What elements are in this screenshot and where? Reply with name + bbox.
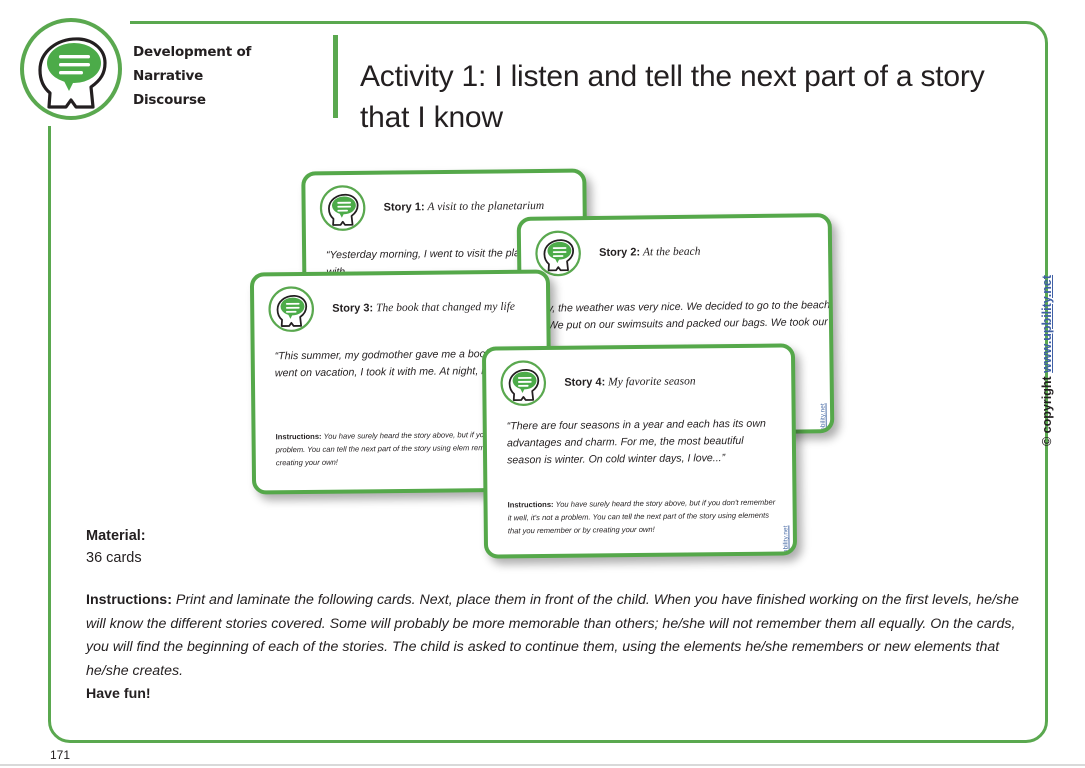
instructions-paragraph: Instructions: Print and laminate the fol…: [86, 589, 1028, 683]
instructions-text: Print and laminate the following cards. …: [86, 592, 1019, 679]
card-title: Story 1: A visit to the planetarium: [384, 200, 545, 214]
card-title: Story 2: At the beach: [599, 246, 700, 259]
title-accent-bar: [333, 35, 338, 118]
brand-line-2: Discourse: [133, 88, 313, 112]
card-label: Story 1:: [384, 201, 425, 213]
page-number: 171: [50, 748, 70, 762]
card-copyright-url[interactable]: www.upbility.net: [783, 525, 790, 558]
instructions-section: Instructions: Print and laminate the fol…: [86, 589, 1028, 707]
have-fun-text: Have fun!: [86, 683, 1028, 707]
page-title: Activity 1: I listen and tell the next p…: [360, 56, 1040, 138]
card-story-text: “There are four seasons in a year and ea…: [507, 416, 778, 470]
card-label: Story 2:: [599, 246, 640, 258]
material-value: 36 cards: [86, 547, 146, 569]
card-subject: The book that changed my life: [376, 301, 515, 314]
instructions-label: Instructions:: [86, 592, 172, 608]
page-copyright-url[interactable]: www.upbility.net: [1040, 275, 1054, 373]
material-section: Material: 36 cards: [86, 525, 146, 569]
card-label: Story 3:: [332, 302, 373, 314]
card-copyright: © copyright www.upbility.net: [783, 525, 791, 558]
card-label: Story 4:: [564, 376, 605, 388]
card-title: Story 3: The book that changed my life: [332, 301, 515, 315]
head-speech-bubble-icon: [19, 17, 123, 121]
material-label: Material:: [86, 525, 146, 547]
card-story-text: ay, the weather was very nice. We decide…: [542, 297, 832, 335]
head-speech-bubble-icon: [535, 230, 582, 277]
card-title: Story 4: My favorite season: [564, 375, 695, 388]
card-header: Story 2: At the beach: [535, 229, 701, 277]
card-subject: At the beach: [643, 246, 701, 259]
head-speech-bubble-icon: [500, 360, 546, 406]
card-instructions-label: Instructions:: [276, 432, 322, 441]
story-card[interactable]: Story 4: My favorite season “There are f…: [482, 343, 797, 558]
brand-name: Development of Narrative Discourse: [133, 40, 313, 112]
head-speech-bubble-icon: [319, 185, 365, 231]
page-copyright-prefix: © copyright: [1040, 373, 1054, 446]
brand-line-1: Development of Narrative: [133, 40, 313, 88]
card-header: Story 1: A visit to the planetarium: [319, 183, 544, 231]
card-instructions-label: Instructions:: [508, 500, 554, 509]
card-subject: My favorite season: [608, 375, 696, 388]
card-header: Story 4: My favorite season: [500, 358, 696, 406]
head-speech-bubble-icon: [268, 286, 314, 332]
activity-page: Development of Narrative Discourse Activ…: [0, 0, 1085, 768]
page-copyright: © copyright www.upbility.net: [1040, 275, 1054, 446]
card-subject: A visit to the planetarium: [427, 200, 544, 213]
footer-divider: [0, 764, 1085, 766]
card-header: Story 3: The book that changed my life: [268, 284, 515, 333]
card-instructions: Instructions: You have surely heard the …: [507, 496, 777, 538]
